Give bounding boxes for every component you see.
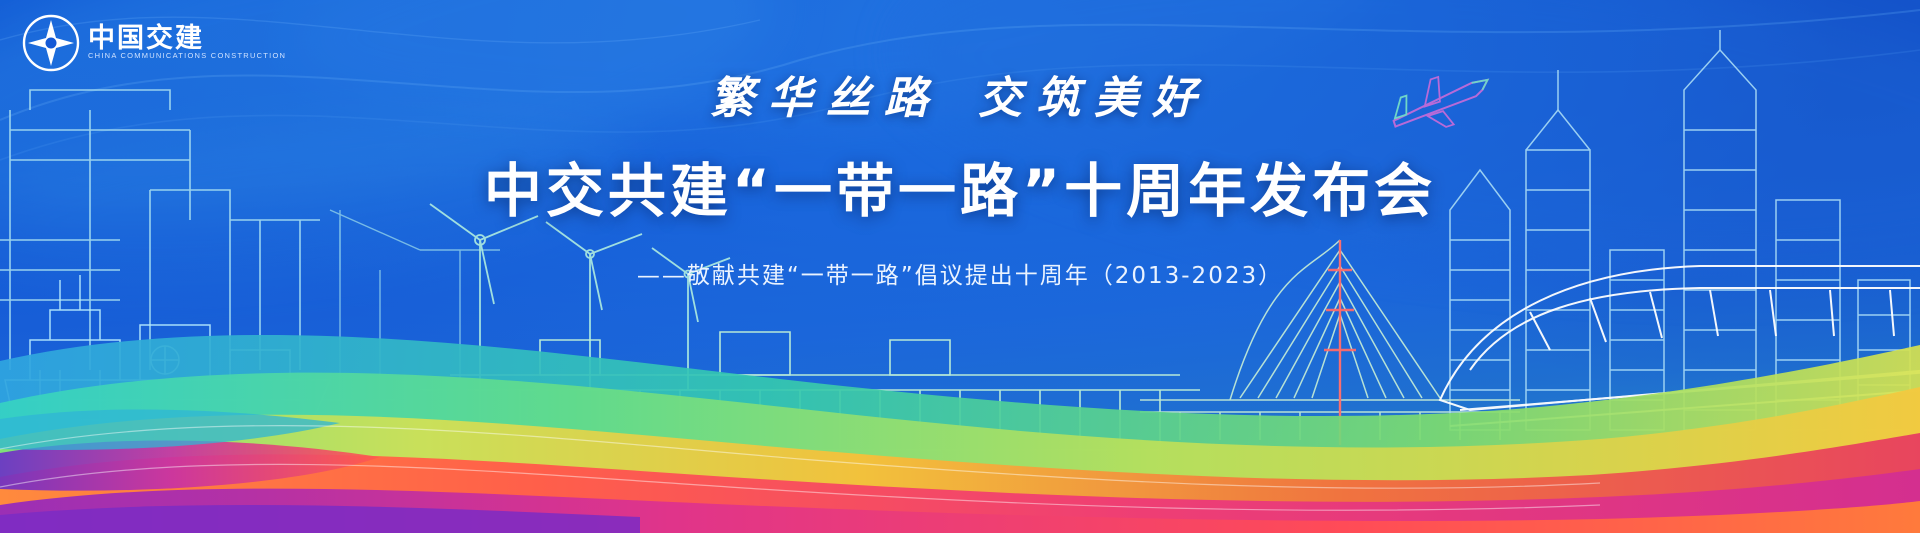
page-title: 中交共建“一带一路”十周年发布会 — [0, 144, 1920, 228]
silk-road-ribbons — [0, 253, 1920, 533]
kicker-right: 交筑美好 — [978, 73, 1210, 124]
logo-english-text: CHINA COMMUNICATIONS CONSTRUCTION — [88, 51, 286, 60]
kicker-left: 繁华丝路 — [710, 73, 942, 124]
kicker: 繁华丝路交筑美好 — [0, 62, 1920, 126]
event-banner: 中国交建 CHINA COMMUNICATIONS CONSTRUCTION — [0, 0, 1920, 533]
logo-chinese-text: 中国交建 — [88, 16, 204, 55]
